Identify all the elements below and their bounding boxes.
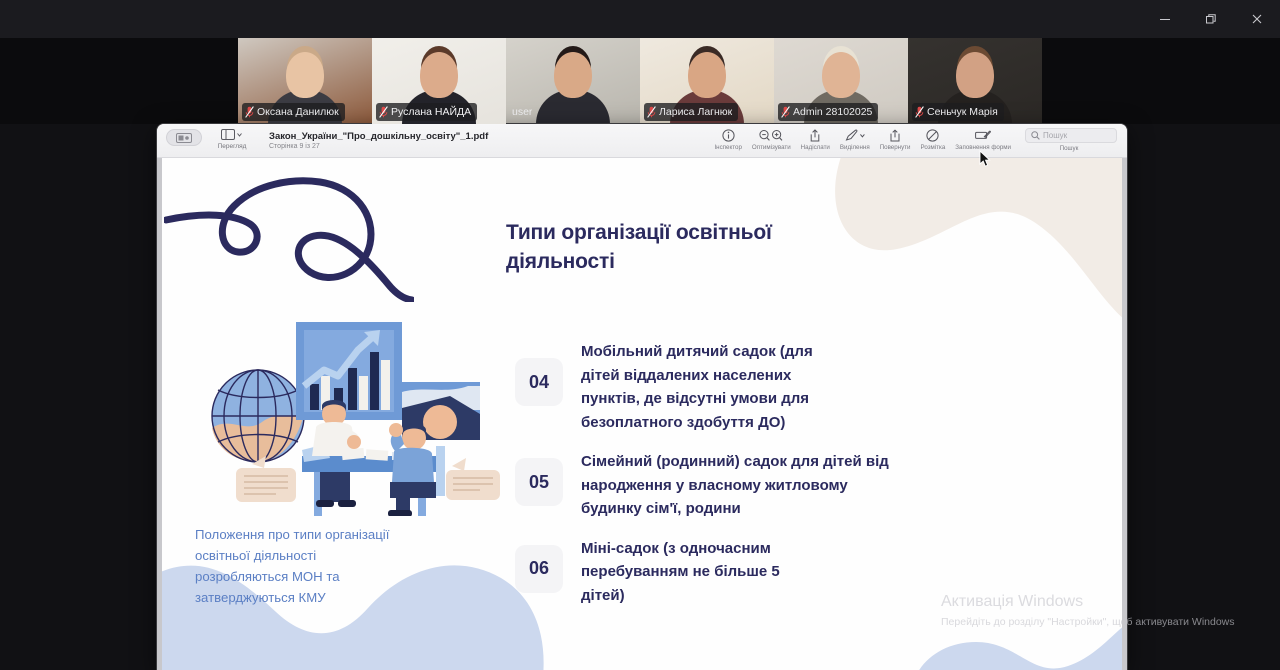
page-status: Сторінка 9 із 27 [269,143,488,150]
pdf-tool-share[interactable]: Надіслати [797,128,834,151]
participant-name: Руслана НАЙДА [391,105,471,119]
participant-tile[interactable]: Оксана Данилюк [238,38,372,124]
pdf-tool-rotate[interactable]: Повернути [876,128,915,151]
slide-item-text-line: народження у власному житловому [581,474,889,498]
muted-mic-icon [647,106,656,118]
highlight-icon [844,128,866,142]
slide-title-line: діяльності [506,247,836,276]
slide-page: Типи організації освітньоїдіяльності Пол… [162,158,1122,670]
close-button[interactable] [1234,3,1280,35]
participant-silhouette-head [688,52,726,98]
pdf-viewer-window: Перегляд Закон_України_"Про_дошкільну_ос… [157,124,1127,670]
participant-silhouette-head [286,52,324,98]
pdf-tool-zoom-out[interactable]: Оптимізувати [748,128,795,151]
pdf-search-label: Пошук [1060,145,1079,152]
pdf-page-canvas: Типи організації освітньоїдіяльності Пол… [157,158,1127,670]
zoom-out-icon [759,128,783,142]
page-preview-icon [166,129,202,146]
slide-item-text: Мобільний дитячий садок (длядітей віддал… [581,340,813,434]
participant-name: Admin 28102025 [793,105,872,119]
restore-button[interactable] [1188,3,1234,35]
markup-icon [926,128,939,142]
slide-note-line: розробляються МОН та [195,566,475,587]
slide-note-line: Положення про типи організації [195,524,475,545]
slide-item-text-line: перебуванням не більше 5 [581,560,780,584]
participant-silhouette-head [956,52,994,98]
beige-decorative-blob [802,158,1122,329]
participant-name: Оксана Данилюк [257,105,339,119]
form-fill-icon [975,128,991,142]
slide-title: Типи організації освітньоїдіяльності [506,218,836,276]
participant-tile[interactable]: Руслана НАЙДА [372,38,506,124]
pdf-tool-highlight[interactable]: Виділення [836,128,874,151]
participant-tile[interactable]: Лариса Лагнюк [640,38,774,124]
participant-video-strip: Оксана ДанилюкРуслана НАЙДАuserЛариса Ла… [0,38,1280,124]
participant-tile[interactable]: Сеньчук Марія [908,38,1042,124]
participant-name: user [512,105,532,119]
mouse-cursor [979,150,991,173]
participant-name-badge: Оксана Данилюк [242,103,345,121]
participant-tile[interactable]: Admin 28102025 [774,38,908,124]
slide-item-text-line: пунктів, де відсутні умови для [581,387,813,411]
sidebar-toggle-label: Перегляд [218,143,247,150]
participant-name-badge: Admin 28102025 [778,103,878,121]
slide-item-text: Міні-садок (з одночаснимперебуванням не … [581,537,780,608]
participant-name-badge: user [510,103,538,121]
pdf-tool-label: Повернути [880,144,911,151]
slide-item-text-line: Мобільний дитячий садок (для [581,340,813,364]
slide-left-note: Положення про типи організації освітньої… [195,524,475,608]
participant-tile[interactable]: user [506,38,640,124]
slide-item-text-line: Міні-садок (з одночасним [581,537,780,561]
participant-name-badge: Руслана НАЙДА [376,103,477,121]
muted-mic-icon [379,106,388,118]
minimize-button[interactable] [1142,3,1188,35]
pdf-tool-inspector[interactable]: Інспектор [710,128,745,151]
participant-name: Лариса Лагнюк [659,105,732,119]
pdf-tool-label: Виділення [840,144,870,151]
slide-item-number: 05 [515,458,563,506]
muted-mic-icon [915,106,924,118]
slide-item-text: Сімейний (родинний) садок для дітей відн… [581,450,889,521]
slide-item-number: 04 [515,358,563,406]
participant-name: Сеньчук Марія [927,105,998,119]
document-title: Закон_України_"Про_дошкільну_освіту"_1.p… [269,131,488,142]
search-input[interactable]: Пошук [1025,128,1117,143]
business-meeting-analytics-illustration [200,316,500,516]
pdf-tool-buttons: ІнспекторОптимізуватиНадіслатиВиділенняП… [710,124,1121,152]
slide-item-text-line: будинку сім'ї, родини [581,497,889,521]
slide-list-item: 05Сімейний (родинний) садок для дітей ві… [515,450,985,521]
pdf-tool-label: Надіслати [801,144,830,151]
pdf-tool-form-fill[interactable]: Заповнення форми [951,128,1015,151]
participant-tiles: Оксана ДанилюкРуслана НАЙДАuserЛариса Ла… [238,38,1042,124]
slide-item-text-line: дітей) [581,584,780,608]
inspector-icon [722,128,735,142]
share-icon [809,128,821,142]
window-title-bar [0,0,1280,38]
slide-item-number: 06 [515,545,563,593]
sidebar-icon [221,127,243,142]
participant-name-badge: Сеньчук Марія [912,103,1004,121]
screen: Оксана ДанилюкРуслана НАЙДАuserЛариса Ла… [0,0,1280,670]
pdf-tool-label: Розмітка [920,144,945,151]
slide-note-line: затверджуються КМУ [195,587,475,608]
muted-mic-icon [781,106,790,118]
slide-title-line: Типи організації освітньої [506,218,836,247]
muted-mic-icon [245,106,254,118]
search-icon [1031,131,1040,140]
rotate-icon [889,128,901,142]
search-placeholder: Пошук [1043,131,1067,140]
thumbnail-view-button[interactable] [163,127,205,146]
slide-item-text-line: дітей віддалених населених [581,364,813,388]
pdf-tool-label: Інспектор [714,144,741,151]
slide-list-item: 06Міні-садок (з одночаснимперебуванням н… [515,537,985,608]
participant-silhouette-head [554,52,592,98]
document-title-block: Закон_України_"Про_дошкільну_освіту"_1.p… [269,127,488,150]
slide-list-item: 04Мобільний дитячий садок (длядітей відд… [515,340,985,434]
purple-swirl-decoration [164,172,414,302]
slide-item-list: 04Мобільний дитячий садок (длядітей відд… [515,340,985,623]
pdf-search-tool[interactable]: ПошукПошук [1017,128,1121,152]
participant-silhouette-head [822,52,860,98]
sidebar-toggle-button[interactable]: Перегляд [211,127,253,150]
slide-item-text-line: Сімейний (родинний) садок для дітей від [581,450,889,474]
pdf-tool-markup[interactable]: Розмітка [916,128,949,151]
pdf-tool-label: Оптимізувати [752,144,791,151]
participant-silhouette-head [420,52,458,98]
slide-note-line: освітньої діяльності [195,545,475,566]
slide-item-text-line: безоплатного здобуття ДО) [581,411,813,435]
participant-name-badge: Лариса Лагнюк [644,103,738,121]
